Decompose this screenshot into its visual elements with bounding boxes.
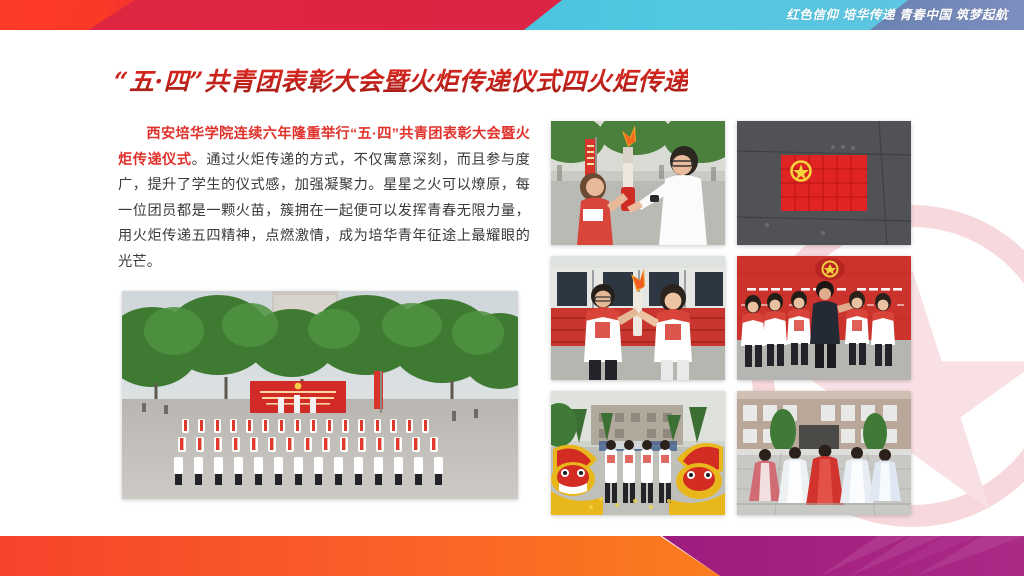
photo-lion-dance[interactable] — [551, 391, 725, 515]
article-column: 西安培华学院连续六年隆重举行“五·四”共青团表彰大会暨火炬传递仪式。通过火炬传递… — [118, 122, 530, 275]
photo-two-students-torch[interactable] — [551, 256, 725, 380]
article-rest: 。通过火炬传递的方式，不仅寓意深刻，而且参与度广，提升了学生的仪式感，加强凝聚力… — [118, 152, 530, 270]
article-paragraph: 西安培华学院连续六年隆重举行“五·四”共青团表彰大会暨火炬传递仪式。通过火炬传递… — [118, 122, 530, 275]
bottom-banner — [0, 536, 1024, 576]
bottom-segment-orange — [0, 536, 720, 576]
slide-canvas: 红色信仰 培华传递 青春中国 筑梦起航 “五·四”共青团表彰大会暨火炬传递仪式四… — [0, 0, 1024, 576]
photo-ceremony-assembly[interactable] — [122, 291, 518, 499]
banner-slogan: 红色信仰 培华传递 青春中国 筑梦起航 — [786, 0, 1008, 30]
top-banner: 红色信仰 培华传递 青春中国 筑梦起航 — [0, 0, 1024, 30]
photo-torch-handover[interactable] — [551, 121, 725, 245]
photo-youth-league-flag-formation[interactable] — [737, 121, 911, 245]
page-title: “五·四”共青团表彰大会暨火炬传递仪式四火炬传递 — [114, 62, 688, 98]
photo-hanfu-performance[interactable] — [737, 391, 911, 515]
photo-stage-group-photo[interactable] — [737, 256, 911, 380]
bottom-fan-decoration — [730, 536, 1024, 576]
